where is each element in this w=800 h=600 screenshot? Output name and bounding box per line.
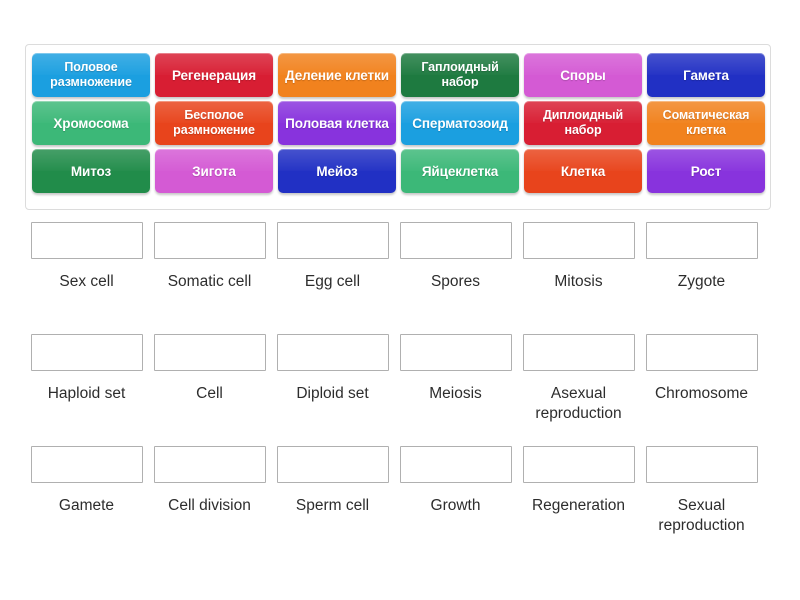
drop-target-box[interactable]	[31, 446, 143, 483]
answer-cell: Regeneration	[517, 446, 640, 558]
draggable-tile[interactable]: Гаплоидный набор	[401, 53, 519, 97]
answer-cell: Meiosis	[394, 334, 517, 446]
draggable-tile[interactable]: Соматическая клетка	[647, 101, 765, 145]
tile-label: Гамета	[683, 68, 729, 83]
tile-label: Хромосома	[53, 116, 128, 131]
answer-cell: Sperm cell	[271, 446, 394, 558]
answer-cell: Growth	[394, 446, 517, 558]
drop-target-box[interactable]	[154, 222, 266, 259]
answer-grid: Sex cellSomatic cellEgg cellSporesMitosi…	[25, 222, 775, 558]
drop-target-box[interactable]	[646, 334, 758, 371]
drop-target-box[interactable]	[31, 334, 143, 371]
answer-label: Spores	[397, 272, 515, 292]
answer-cell: Egg cell	[271, 222, 394, 334]
drop-target-box[interactable]	[400, 222, 512, 259]
draggable-tile[interactable]: Диплоидный набор	[524, 101, 642, 145]
answer-label: Mitosis	[520, 272, 638, 292]
tile-label: Зигота	[192, 164, 236, 179]
draggable-tile[interactable]: Споры	[524, 53, 642, 97]
answer-cell: Cell	[148, 334, 271, 446]
answer-label: Gamete	[28, 496, 146, 516]
answer-label: Regeneration	[520, 496, 638, 516]
answer-cell: Asexual reproduction	[517, 334, 640, 446]
draggable-tile[interactable]: Клетка	[524, 149, 642, 193]
answer-label: Growth	[397, 496, 515, 516]
drop-target-box[interactable]	[154, 334, 266, 371]
draggable-tile[interactable]: Мейоз	[278, 149, 396, 193]
answer-label: Asexual reproduction	[520, 384, 638, 424]
drop-target-box[interactable]	[523, 446, 635, 483]
drop-target-box[interactable]	[523, 334, 635, 371]
tile-label: Клетка	[561, 164, 605, 179]
drop-target-box[interactable]	[400, 334, 512, 371]
answer-cell: Cell division	[148, 446, 271, 558]
answer-cell: Mitosis	[517, 222, 640, 334]
drop-target-box[interactable]	[646, 222, 758, 259]
answer-label: Sexual reproduction	[643, 496, 761, 536]
tile-label: Митоз	[71, 164, 111, 179]
drop-target-box[interactable]	[31, 222, 143, 259]
drop-target-box[interactable]	[154, 446, 266, 483]
drop-target-box[interactable]	[523, 222, 635, 259]
draggable-tile[interactable]: Сперматозоид	[401, 101, 519, 145]
draggable-tile[interactable]: Деление клетки	[278, 53, 396, 97]
tile-label: Бесполое размножение	[158, 108, 270, 138]
draggable-tile[interactable]: Бесполое размножение	[155, 101, 273, 145]
draggable-tile[interactable]: Регенерация	[155, 53, 273, 97]
draggable-tile[interactable]: Митоз	[32, 149, 150, 193]
tile-row: Половое размножениеРегенерацияДеление кл…	[32, 53, 764, 97]
drop-target-box[interactable]	[400, 446, 512, 483]
answer-cell: Haploid set	[25, 334, 148, 446]
answer-label: Sex cell	[28, 272, 146, 292]
answer-cell: Zygote	[640, 222, 763, 334]
answer-label: Somatic cell	[151, 272, 269, 292]
tile-label: Деление клетки	[285, 68, 389, 83]
answer-label: Zygote	[643, 272, 761, 292]
tile-label: Гаплоидный набор	[404, 60, 516, 90]
tile-label: Мейоз	[316, 164, 357, 179]
tile-label: Споры	[560, 68, 605, 83]
answer-label: Cell	[151, 384, 269, 404]
answer-row: Sex cellSomatic cellEgg cellSporesMitosi…	[25, 222, 775, 334]
answer-cell: Somatic cell	[148, 222, 271, 334]
tile-row: ХромосомаБесполое размножениеПоловая кле…	[32, 101, 764, 145]
tile-row: МитозЗиготаМейозЯйцеклеткаКлеткаРост	[32, 149, 764, 193]
drop-target-box[interactable]	[277, 446, 389, 483]
answer-cell: Chromosome	[640, 334, 763, 446]
answer-label: Haploid set	[28, 384, 146, 404]
drop-target-box[interactable]	[646, 446, 758, 483]
answer-cell: Sexual reproduction	[640, 446, 763, 558]
tile-label: Половое размножение	[35, 60, 147, 90]
drop-target-box[interactable]	[277, 334, 389, 371]
answer-row: Haploid setCellDiploid setMeiosisAsexual…	[25, 334, 775, 446]
draggable-tile[interactable]: Половая клетка	[278, 101, 396, 145]
draggable-tiles-tray: Половое размножениеРегенерацияДеление кл…	[25, 44, 771, 210]
answer-row: GameteCell divisionSperm cellGrowthRegen…	[25, 446, 775, 558]
answer-label: Chromosome	[643, 384, 761, 404]
tile-label: Диплоидный набор	[527, 108, 639, 138]
tile-label: Соматическая клетка	[650, 108, 762, 138]
tile-label: Регенерация	[172, 68, 256, 83]
tile-label: Сперматозоид	[412, 116, 508, 131]
answer-label: Egg cell	[274, 272, 392, 292]
draggable-tile[interactable]: Зигота	[155, 149, 273, 193]
draggable-tile[interactable]: Рост	[647, 149, 765, 193]
answer-label: Cell division	[151, 496, 269, 516]
tile-label: Рост	[691, 164, 721, 179]
answer-cell: Gamete	[25, 446, 148, 558]
answer-label: Sperm cell	[274, 496, 392, 516]
tile-label: Яйцеклетка	[422, 164, 498, 179]
answer-label: Diploid set	[274, 384, 392, 404]
answer-cell: Diploid set	[271, 334, 394, 446]
draggable-tile[interactable]: Половое размножение	[32, 53, 150, 97]
draggable-tile[interactable]: Хромосома	[32, 101, 150, 145]
answer-cell: Spores	[394, 222, 517, 334]
draggable-tile[interactable]: Гамета	[647, 53, 765, 97]
draggable-tile[interactable]: Яйцеклетка	[401, 149, 519, 193]
answer-cell: Sex cell	[25, 222, 148, 334]
tile-label: Половая клетка	[285, 116, 389, 131]
drop-target-box[interactable]	[277, 222, 389, 259]
answer-label: Meiosis	[397, 384, 515, 404]
